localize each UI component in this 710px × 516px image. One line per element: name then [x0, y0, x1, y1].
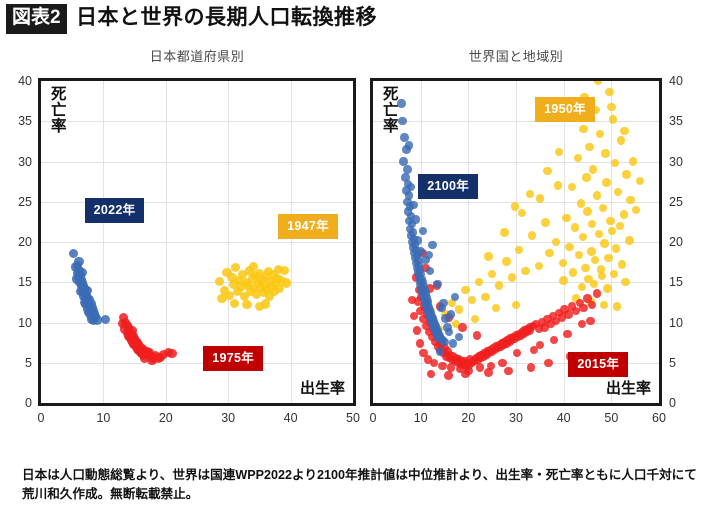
x-tick-label: 10	[88, 412, 118, 424]
scatter-point	[428, 241, 436, 249]
scatter-point	[416, 339, 424, 347]
scatter-point	[569, 268, 577, 276]
scatter-point	[587, 247, 595, 255]
scatter-point	[602, 178, 610, 186]
x-tick-label: 60	[644, 412, 674, 424]
scatter-point	[626, 196, 634, 204]
scatter-point	[508, 273, 516, 281]
y-axis-label-world: 死亡率	[383, 87, 400, 135]
scatter-point	[608, 227, 616, 235]
scatter-point	[622, 170, 630, 178]
scatter-point	[427, 370, 435, 378]
scatter-point	[586, 317, 594, 325]
gridline-horizontal	[41, 363, 353, 364]
scatter-point	[407, 183, 415, 191]
x-tick-label: 20	[453, 412, 483, 424]
gridline-horizontal	[373, 323, 659, 324]
scatter-point	[559, 276, 567, 284]
scatter-point	[215, 277, 224, 286]
scatter-point	[521, 267, 529, 275]
x-tick-label: 20	[151, 412, 181, 424]
scatter-point	[611, 159, 619, 167]
scatter-point	[563, 330, 571, 338]
scatter-point	[412, 215, 420, 223]
scatter-point	[588, 301, 596, 309]
scatter-point	[512, 301, 520, 309]
scatter-point	[545, 249, 553, 257]
annotation-tag-1975: 1975年	[203, 346, 263, 371]
scatter-point	[495, 281, 503, 289]
x-tick-label: 0	[26, 412, 56, 424]
y-tick-label: 40	[6, 75, 32, 87]
scatter-point	[440, 338, 448, 346]
annotation-tag-2022: 2022年	[85, 198, 145, 223]
scatter-point	[83, 286, 92, 295]
annotation-tag-2100: 2100年	[418, 174, 478, 199]
scatter-point	[147, 356, 156, 365]
y-tick-label: 30	[669, 156, 695, 168]
chart-subtitle-japan: 日本都道府県別	[38, 46, 356, 65]
gridline-horizontal	[41, 121, 353, 122]
scatter-point	[230, 299, 239, 308]
gridline-horizontal	[41, 162, 353, 163]
plot-area-world: 死亡率出生率2100年1950年2015年	[370, 78, 662, 406]
scatter-point	[568, 183, 576, 191]
y-tick-label: 10	[669, 317, 695, 329]
y-tick-label: 30	[6, 156, 32, 168]
scatter-point	[416, 247, 424, 255]
scatter-point	[598, 272, 606, 280]
y-tick-label: 0	[669, 397, 695, 409]
figure-badge: 図表2	[6, 4, 67, 34]
scatter-point	[579, 304, 587, 312]
scatter-point	[578, 283, 586, 291]
x-tick-label: 30	[213, 412, 243, 424]
scatter-point	[579, 233, 587, 241]
scatter-point	[555, 148, 563, 156]
scatter-point	[445, 328, 453, 336]
scatter-point	[629, 157, 637, 165]
scatter-point	[498, 359, 506, 367]
y-tick-label: 0	[6, 397, 32, 409]
scatter-point	[593, 289, 601, 297]
y-tick-label: 25	[669, 196, 695, 208]
scatter-point	[444, 371, 452, 379]
scatter-point	[515, 246, 523, 254]
scatter-point	[451, 293, 459, 301]
scatter-point	[167, 349, 176, 358]
scatter-point	[609, 115, 617, 123]
scatter-point	[528, 231, 536, 239]
page-title: 日本と世界の長期人口転換推移	[76, 3, 377, 33]
scatter-point	[596, 130, 604, 138]
scatter-point	[621, 278, 629, 286]
scatter-point	[636, 177, 644, 185]
y-tick-label: 35	[669, 115, 695, 127]
scatter-point	[565, 243, 573, 251]
scatter-point	[541, 218, 549, 226]
scatter-point	[500, 228, 508, 236]
scatter-point	[600, 239, 608, 247]
scatter-point	[588, 220, 596, 228]
scatter-point	[603, 284, 611, 292]
scatter-point	[552, 238, 560, 246]
scatter-point	[419, 349, 427, 357]
scatter-point	[414, 236, 422, 244]
scatter-point	[421, 256, 429, 264]
y-tick-label: 15	[669, 276, 695, 288]
scatter-point	[78, 268, 87, 277]
scatter-point	[473, 331, 481, 339]
scatter-point	[590, 280, 598, 288]
page-header: 図表2 日本と世界の長期人口転換推移	[0, 0, 710, 38]
chart-subtitle-world: 世界国と地域別	[370, 46, 662, 65]
scatter-point	[593, 191, 601, 199]
x-tick-label: 50	[596, 412, 626, 424]
scatter-point	[413, 326, 421, 334]
scatter-point	[504, 367, 512, 375]
scatter-point	[585, 143, 593, 151]
scatter-point	[405, 141, 413, 149]
scatter-point	[128, 326, 137, 335]
scatter-point	[562, 214, 570, 222]
scatter-point	[579, 125, 587, 133]
scatter-point	[589, 165, 597, 173]
scatter-point	[527, 363, 535, 371]
scatter-point	[605, 88, 613, 96]
scatter-point	[458, 323, 466, 331]
scatter-point	[461, 370, 469, 378]
scatter-point	[447, 310, 455, 318]
y-tick-label: 5	[6, 357, 32, 369]
scatter-point	[433, 280, 441, 288]
annotation-tag-1950: 1950年	[535, 97, 595, 122]
scatter-point	[571, 223, 579, 231]
scatter-point	[616, 222, 624, 230]
scatter-point	[617, 136, 625, 144]
scatter-point	[535, 262, 543, 270]
y-tick-label: 35	[6, 115, 32, 127]
x-tick-label: 10	[406, 412, 436, 424]
scatter-point	[455, 305, 463, 313]
scatter-point	[578, 320, 586, 328]
y-axis-label-japan: 死亡率	[51, 87, 68, 135]
annotation-tag-1947: 1947年	[278, 214, 338, 239]
scatter-point	[595, 230, 603, 238]
scatter-point	[518, 209, 526, 217]
scatter-point	[282, 278, 291, 287]
scatter-point	[526, 190, 534, 198]
scatter-point	[419, 227, 427, 235]
scatter-point	[249, 262, 258, 271]
scatter-point	[575, 251, 583, 259]
scatter-point	[426, 267, 434, 275]
scatter-point	[600, 301, 608, 309]
scatter-point	[632, 206, 640, 214]
scatter-point	[554, 181, 562, 189]
scatter-point	[274, 265, 283, 274]
scatter-point	[476, 363, 484, 371]
scatter-point	[449, 339, 457, 347]
scatter-point	[543, 167, 551, 175]
scatter-point	[481, 293, 489, 301]
scatter-point	[577, 199, 585, 207]
gridline-horizontal	[41, 282, 353, 283]
scatter-point	[492, 304, 500, 312]
scatter-point	[606, 217, 614, 225]
scatter-point	[583, 207, 591, 215]
scatter-point	[607, 103, 615, 111]
x-axis-label-world: 出生率	[606, 381, 651, 397]
y-tick-label: 25	[6, 196, 32, 208]
x-tick-label: 0	[358, 412, 388, 424]
footnote: 日本は人口動態総覧より、世界は国連WPP2022より2100年推計値は中位推計よ…	[22, 466, 698, 504]
scatter-point	[544, 359, 552, 367]
scatter-point	[618, 260, 626, 268]
y-tick-label: 20	[6, 236, 32, 248]
scatter-point	[488, 270, 496, 278]
scatter-point	[261, 299, 270, 308]
scatter-point	[604, 254, 612, 262]
scatter-point	[530, 346, 538, 354]
scatter-point	[625, 236, 633, 244]
x-tick-label: 40	[276, 412, 306, 424]
scatter-point	[438, 362, 446, 370]
scatter-point	[525, 326, 533, 334]
x-axis-label-japan: 出生率	[300, 381, 345, 397]
scatter-point	[594, 78, 602, 85]
gridline-horizontal	[41, 242, 353, 243]
scatter-point	[511, 202, 519, 210]
scatter-point	[468, 296, 476, 304]
scatter-point	[612, 244, 620, 252]
plot-area-japan: 死亡率出生率2022年1975年1947年	[38, 78, 356, 406]
scatter-point	[455, 333, 463, 341]
y-tick-label: 5	[669, 357, 695, 369]
scatter-point	[614, 188, 622, 196]
scatter-point	[582, 173, 590, 181]
scatter-point	[409, 201, 417, 209]
scatter-point	[513, 349, 521, 357]
y-tick-label: 10	[6, 317, 32, 329]
y-tick-label: 40	[669, 75, 695, 87]
scatter-point	[217, 294, 226, 303]
scatter-point	[599, 204, 607, 212]
scatter-point	[620, 210, 628, 218]
scatter-point	[613, 302, 621, 310]
scatter-point	[484, 368, 492, 376]
scatter-point	[410, 312, 418, 320]
annotation-tag-2015: 2015年	[568, 352, 628, 377]
scatter-point	[439, 299, 447, 307]
x-tick-label: 40	[549, 412, 579, 424]
scatter-point	[536, 194, 544, 202]
scatter-point	[74, 257, 83, 266]
scatter-point	[502, 257, 510, 265]
scatter-point	[559, 259, 567, 267]
scatter-point	[601, 149, 609, 157]
scatter-point	[620, 127, 628, 135]
scatter-point	[610, 270, 618, 278]
y-tick-label: 15	[6, 276, 32, 288]
scatter-point	[242, 300, 251, 309]
scatter-point	[436, 347, 444, 355]
scatter-point	[475, 278, 483, 286]
x-tick-label: 30	[501, 412, 531, 424]
scatter-point	[591, 256, 599, 264]
scatter-point	[581, 264, 589, 272]
y-tick-label: 20	[669, 236, 695, 248]
scatter-point	[484, 252, 492, 260]
scatter-point	[550, 336, 558, 344]
scatter-point	[118, 319, 127, 328]
